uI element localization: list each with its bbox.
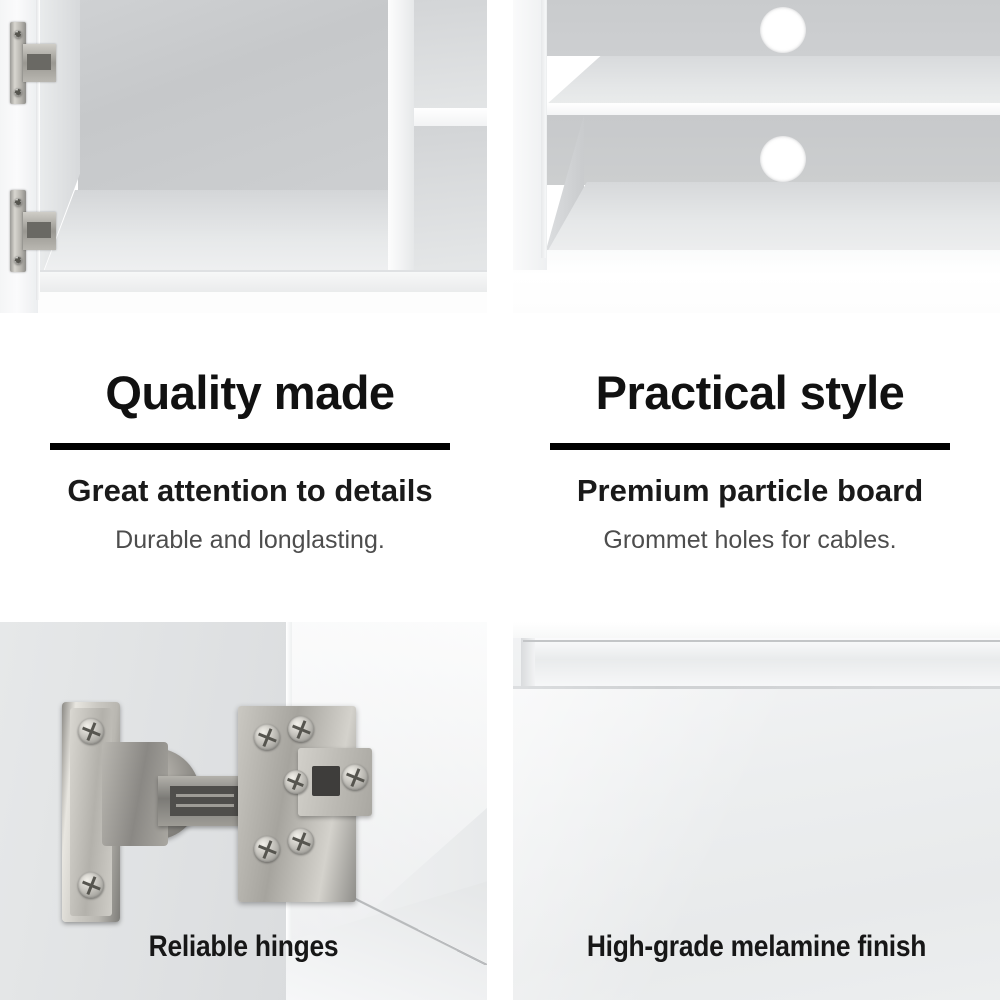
infographic-canvas: Quality made Great attention to details … [0, 0, 1000, 1000]
shelf-upper-surface [546, 56, 1000, 105]
hinge-screw [14, 88, 22, 96]
melamine-groove-shadow-line [523, 640, 1000, 642]
feature-title-quality-made: Quality made [0, 313, 500, 416]
shelf-left-panel-edge [541, 0, 546, 258]
cabinet-floor [40, 190, 390, 282]
feature-divider-rule [550, 443, 950, 450]
cabinet-interior-photo [0, 0, 487, 313]
hinge-screw [14, 30, 22, 38]
feature-block-practical-style: Practical style Premium particle board G… [500, 313, 1000, 622]
feature-divider-rule [50, 443, 450, 450]
melamine-handle-groove [521, 638, 1000, 686]
center-gutter [487, 0, 513, 1000]
feature-block-quality-made: Quality made Great attention to details … [0, 313, 500, 622]
cabinet-hinge-top-icon [10, 22, 56, 104]
melamine-finish-photo: High-grade melamine finish [513, 622, 1000, 1000]
hinge-screw [284, 770, 308, 794]
hinge-closeup-photo: Reliable hinges [0, 622, 487, 1000]
hinge-arm-slot [27, 54, 51, 70]
shelf-lower-surface [546, 182, 1000, 254]
shelf-front-edge [546, 103, 1000, 115]
cabinet-foreground-floor [0, 292, 487, 313]
hinge-screw [14, 256, 22, 264]
concealed-hinge-assembly [62, 690, 372, 940]
cable-grommet-hole-lower-icon [760, 136, 806, 182]
grommet-shelf-photo [513, 0, 1000, 313]
cabinet-side-compartment-lower [414, 126, 487, 281]
photo-caption-reliable-hinges: Reliable hinges [29, 930, 458, 964]
shelf-base-plinth [513, 250, 1000, 313]
hinge-screw [288, 828, 314, 854]
feature-caption-practical-style: Grommet holes for cables. [500, 506, 1000, 553]
feature-title-practical-style: Practical style [500, 313, 1000, 416]
hinge-screw [288, 716, 314, 742]
cabinet-side-compartment-upper [414, 0, 487, 112]
hinge-adjustment-window [312, 766, 340, 796]
hinge-screw [342, 764, 368, 790]
hinge-screw [78, 872, 104, 898]
cabinet-plinth [30, 272, 487, 294]
melamine-groove-end-cap [521, 638, 535, 686]
feature-caption-quality-made: Durable and longlasting. [0, 506, 500, 553]
feature-subtitle-practical-style: Premium particle board [500, 450, 1000, 506]
cabinet-hinge-bottom-icon [10, 190, 56, 272]
hinge-arm-slot [170, 786, 244, 816]
cable-grommet-hole-upper-icon [760, 7, 806, 53]
hinge-screw [14, 198, 22, 206]
hinge-screw [78, 718, 104, 744]
cabinet-back-panel [78, 0, 388, 197]
cabinet-vertical-divider [388, 0, 414, 290]
cabinet-side-shelf [414, 108, 487, 126]
melamine-top-rail [513, 622, 1000, 638]
hinge-screw [254, 724, 280, 750]
hinge-screw [254, 836, 280, 862]
feature-subtitle-quality-made: Great attention to details [0, 450, 500, 506]
hinge-arm-slot [27, 222, 51, 238]
photo-caption-melamine-finish: High-grade melamine finish [542, 930, 971, 964]
